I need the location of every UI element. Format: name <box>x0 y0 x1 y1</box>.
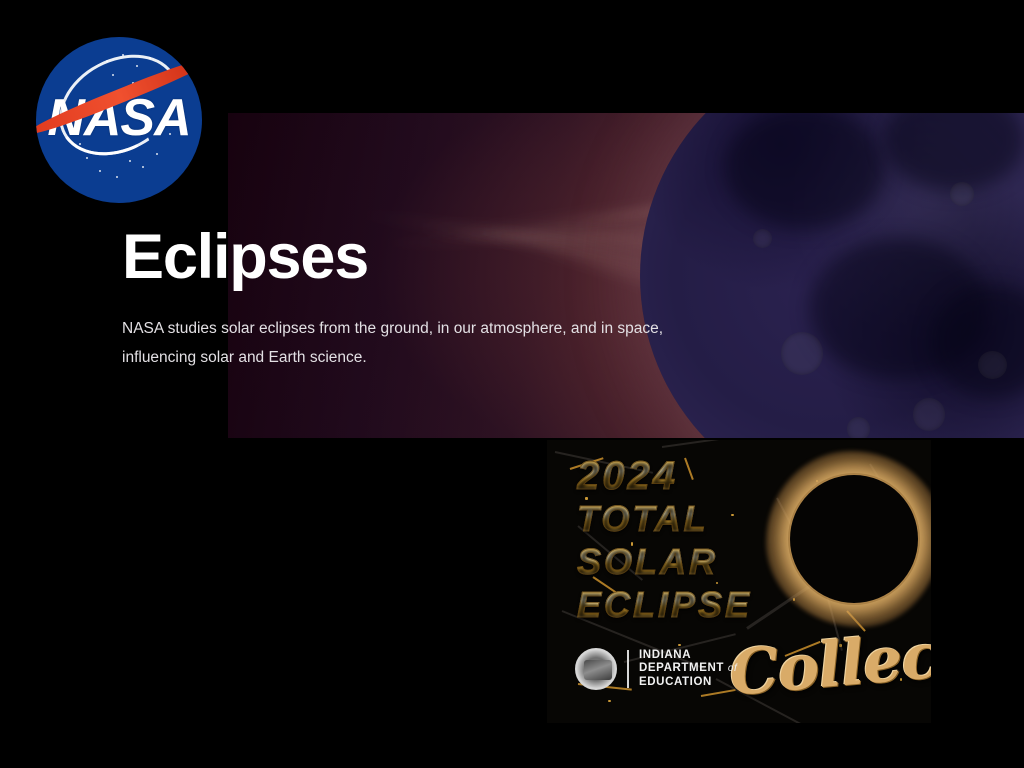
eclipse-collection-card[interactable]: 2024 TOTAL SOLAR ECLIPSE Collection INDI… <box>547 440 931 723</box>
doe-line-2: DEPARTMENT of <box>639 662 737 676</box>
card-line-total: TOTAL <box>577 498 709 540</box>
page-title: Eclipses <box>122 226 368 289</box>
doe-line-3: EDUCATION <box>639 676 737 690</box>
indiana-doe-text: INDIANA DEPARTMENT of EDUCATION <box>639 649 737 690</box>
card-line-solar: SOLAR <box>577 541 718 583</box>
card-line-eclipse: ECLIPSE <box>577 584 752 626</box>
indiana-state-seal-icon <box>575 648 617 690</box>
moon-disc <box>640 113 1024 438</box>
doe-line-1: INDIANA <box>639 649 737 663</box>
page-root: NASA Eclipses NASA studies solar eclipse… <box>0 0 1024 768</box>
nasa-logo[interactable]: NASA <box>36 37 202 203</box>
card-eclipse-icon <box>766 451 931 627</box>
doe-line-2-suffix: of <box>728 663 738 674</box>
logo-divider <box>627 650 629 688</box>
indiana-doe-logo[interactable]: INDIANA DEPARTMENT of EDUCATION <box>575 648 737 690</box>
doe-line-2-main: DEPARTMENT <box>639 662 724 674</box>
card-line-year: 2024 <box>577 454 678 499</box>
page-subtitle: NASA studies solar eclipses from the gro… <box>122 314 722 372</box>
